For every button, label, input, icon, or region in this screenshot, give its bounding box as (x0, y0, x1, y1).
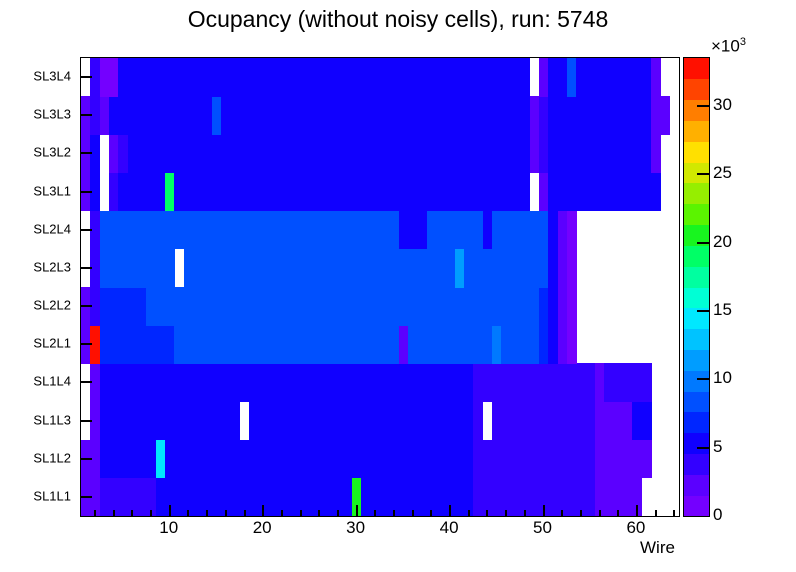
x-axis-minor-tick (580, 510, 582, 516)
heatmap-cell (651, 173, 661, 212)
x-axis-minor-tick (281, 510, 283, 516)
x-axis-minor-tick (599, 510, 601, 516)
heatmap-cell (567, 211, 577, 250)
y-axis-tick (81, 381, 92, 383)
x-axis-tick-label: 20 (253, 518, 272, 538)
colorbar-tick-label: 20 (713, 232, 732, 252)
colorbar-band (684, 349, 709, 370)
colorbar-tick-label: 0 (713, 505, 722, 525)
x-axis-minor-tick (673, 510, 675, 516)
x-axis-minor-tick (655, 510, 657, 516)
colorbar-tick (697, 242, 709, 244)
x-axis-minor-tick (113, 510, 115, 516)
y-axis-label-sl3l4: SL3L4 (33, 69, 71, 84)
colorbar-band (684, 141, 709, 162)
y-axis-label-sl3l2: SL3L2 (33, 145, 71, 160)
colorbar-band (684, 370, 709, 391)
colorbar-band (684, 183, 709, 204)
heatmap-cell (642, 440, 652, 479)
x-axis-tick-label: 10 (159, 518, 178, 538)
heatmap-cell (567, 249, 577, 288)
heatmap-cell (473, 402, 483, 441)
y-axis-labels: SL1L1SL1L2SL1L3SL1L4SL2L1SL2L2SL2L3SL2L4… (0, 57, 78, 515)
y-axis-tick (81, 152, 92, 154)
x-axis-minor-tick (150, 510, 152, 516)
colorbar-band (684, 245, 709, 266)
x-axis-minor-tick (561, 510, 563, 516)
colorbar-band (684, 433, 709, 454)
colorbar-tick-label: 10 (713, 368, 732, 388)
x-axis-minor-tick (374, 510, 376, 516)
colorbar-tick-label: 5 (713, 437, 722, 457)
colorbar-exponent-label: ×103 (711, 36, 746, 57)
colorbar-exponent-base: ×10 (711, 37, 740, 56)
colorbar-band (684, 287, 709, 308)
x-axis-minor-tick (430, 510, 432, 516)
x-axis-minor-tick (244, 510, 246, 516)
x-axis-minor-tick (412, 510, 414, 516)
x-axis-major-tick (636, 505, 638, 516)
y-axis-tick (81, 76, 92, 78)
heatmap-cell (642, 402, 652, 441)
colorbar-band (684, 329, 709, 350)
y-axis-tick (81, 496, 92, 498)
heatmap-cell (567, 287, 577, 326)
x-axis-minor-tick (206, 510, 208, 516)
y-axis-label-sl1l4: SL1L4 (33, 374, 71, 389)
colorbar-band (684, 100, 709, 121)
heatmap-cell (520, 58, 530, 97)
y-axis-tick (81, 191, 92, 193)
colorbar-band (684, 495, 709, 516)
x-axis-major-tick (262, 505, 264, 516)
heatmap-cells (81, 58, 679, 516)
x-axis-minor-tick (505, 510, 507, 516)
y-axis-tick (81, 229, 92, 231)
colorbar-tick (697, 447, 709, 449)
x-axis-major-tick (543, 505, 545, 516)
colorbar-band (684, 474, 709, 495)
colorbar-band (684, 58, 709, 79)
colorbar-band (684, 79, 709, 100)
x-axis-minor-tick (337, 510, 339, 516)
y-axis-tick (81, 458, 92, 460)
y-axis-tick (81, 343, 92, 345)
x-axis-minor-tick (524, 510, 526, 516)
y-axis-label-sl3l1: SL3L1 (33, 183, 71, 198)
y-axis-label-sl2l3: SL2L3 (33, 259, 71, 274)
y-axis-tick (81, 305, 92, 307)
heatmap-cell (660, 96, 670, 135)
root-canvas: Ocupancy (without noisy cells), run: 574… (0, 0, 796, 572)
heatmap-cell (165, 249, 175, 288)
heatmap-cell (651, 134, 661, 173)
x-axis-title: Wire (640, 538, 675, 558)
colorbar-tick (697, 310, 709, 312)
x-axis-major-tick (169, 505, 171, 516)
y-axis-label-sl2l2: SL2L2 (33, 298, 71, 313)
colorbar-band (684, 412, 709, 433)
colorbar-band (684, 266, 709, 287)
heatmap-cell (642, 363, 652, 402)
y-axis-tick (81, 267, 92, 269)
colorbar-tick (697, 378, 709, 380)
colorbar-band (684, 391, 709, 412)
colorbar-exponent-power: 3 (740, 36, 746, 48)
colorbar-band (684, 204, 709, 225)
x-axis-minor-tick (225, 510, 227, 516)
x-axis-minor-tick (300, 510, 302, 516)
y-axis-label-sl2l1: SL2L1 (33, 336, 71, 351)
x-axis-tick-label: 60 (626, 518, 645, 538)
x-axis-tick-label: 30 (346, 518, 365, 538)
y-axis-label-sl1l3: SL1L3 (33, 412, 71, 427)
heatmap-plot-area[interactable] (80, 57, 680, 517)
x-axis-tick-label: 50 (533, 518, 552, 538)
x-axis-minor-tick (617, 510, 619, 516)
x-axis-minor-tick (486, 510, 488, 516)
y-axis-label-sl1l2: SL1L2 (33, 450, 71, 465)
y-axis-tick (81, 114, 92, 116)
x-axis-major-tick (449, 505, 451, 516)
x-axis-major-tick (356, 505, 358, 516)
heatmap-cell (231, 402, 241, 441)
chart-title: Ocupancy (without noisy cells), run: 574… (0, 6, 796, 33)
x-axis-tick-label: 40 (440, 518, 459, 538)
x-axis-minor-tick (131, 510, 133, 516)
colorbar-band (684, 454, 709, 475)
heatmap-cell (567, 325, 577, 364)
x-axis-minor-tick (393, 510, 395, 516)
x-axis-minor-tick (468, 510, 470, 516)
y-axis-label-sl2l4: SL2L4 (33, 221, 71, 236)
heatmap-cell (520, 173, 530, 212)
y-axis-label-sl1l1: SL1L1 (33, 488, 71, 503)
colorbar-tick (697, 105, 709, 107)
colorbar-tick-label: 25 (713, 163, 732, 183)
heatmap-cell (651, 58, 661, 97)
y-axis-tick (81, 420, 92, 422)
x-axis-minor-tick (187, 510, 189, 516)
colorbar-tick-label: 30 (713, 95, 732, 115)
x-axis-minor-tick (318, 510, 320, 516)
x-axis-minor-tick (94, 510, 96, 516)
colorbar-band (684, 120, 709, 141)
y-axis-label-sl3l3: SL3L3 (33, 107, 71, 122)
colorbar-tick-label: 15 (713, 300, 732, 320)
colorbar-tick (697, 173, 709, 175)
